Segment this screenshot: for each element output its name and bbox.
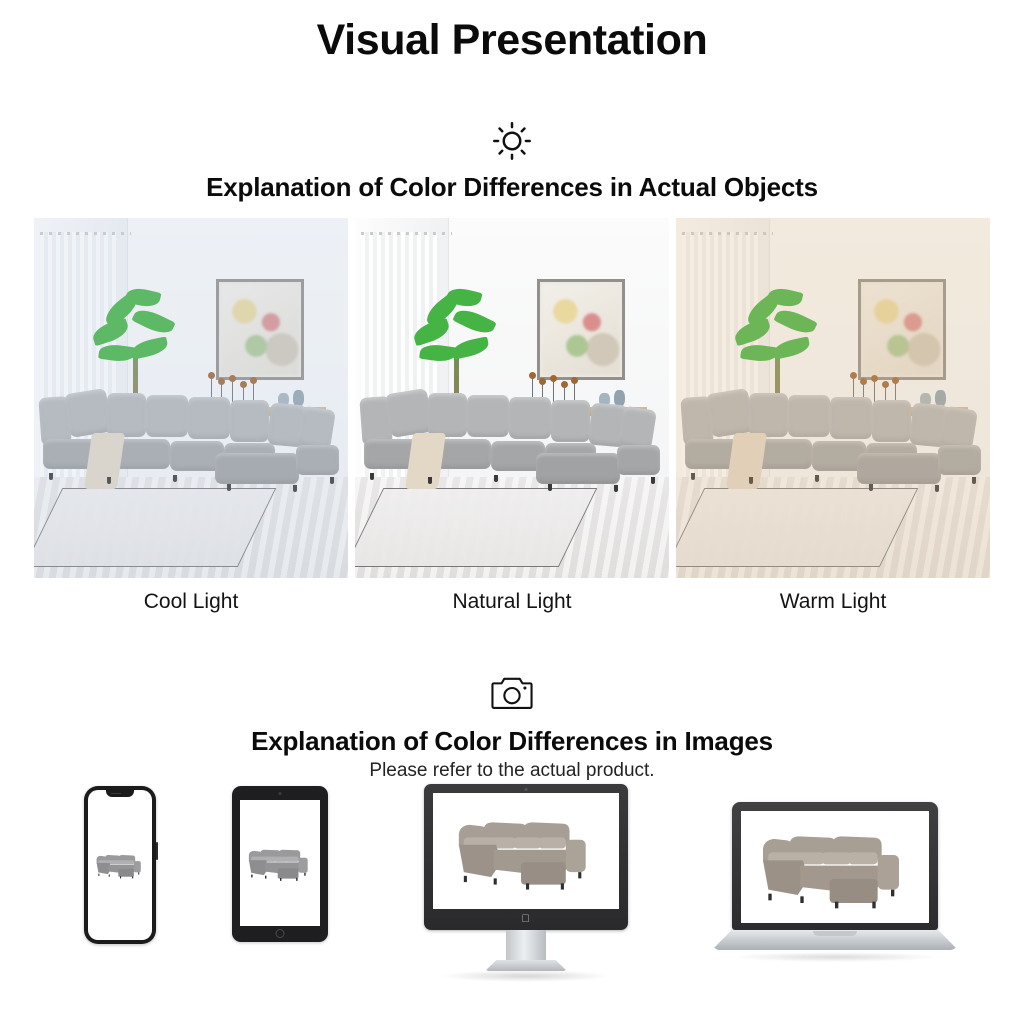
device-smartphone: [84, 786, 156, 944]
curtain-rail: [40, 232, 131, 235]
product-image-sofa: [755, 815, 915, 919]
living-room-scene: [355, 218, 669, 578]
product-image-sofa: [245, 841, 315, 886]
monitor-screen: [433, 793, 619, 909]
sectional-sofa: [682, 391, 983, 492]
page-title: Visual Presentation: [0, 16, 1024, 65]
tablet-screen: [240, 800, 320, 926]
device-preview-row: : [0, 786, 1024, 996]
area-rug: [676, 488, 918, 567]
product-image-sofa: [451, 803, 601, 900]
tablet-home-button[interactable]: [276, 929, 285, 938]
monitor-shadow: [441, 970, 611, 982]
smartphone-notch: [106, 790, 134, 797]
section-heading-images: Explanation of Color Differences in Imag…: [0, 726, 1024, 757]
monitor-camera-icon: [525, 788, 528, 791]
living-room-scene: [676, 218, 990, 578]
laptop-screen: [741, 811, 929, 923]
area-rug: [34, 488, 276, 567]
plant-leaf: [131, 305, 175, 338]
photo-caption-warm: Warm Light: [676, 590, 990, 614]
wall-art: [858, 279, 946, 380]
curtain-rail: [682, 232, 773, 235]
apple-logo-icon: : [522, 914, 531, 925]
plant-leaf: [452, 305, 496, 338]
section-heading-actual-objects: Explanation of Color Differences in Actu…: [0, 172, 1024, 203]
section-subheading-images: Please refer to the actual product.: [0, 760, 1024, 782]
device-tablet: [232, 786, 328, 942]
sectional-sofa: [361, 391, 662, 492]
product-image-sofa: [94, 848, 146, 882]
curtain-rail: [361, 232, 452, 235]
monitor-body: : [424, 784, 628, 930]
camera-icon: [0, 672, 1024, 717]
area-rug: [355, 488, 597, 567]
tablet-camera-icon: [279, 792, 282, 795]
device-desktop-monitor: : [424, 784, 628, 934]
plant-leaf: [772, 337, 812, 360]
plant-leaf: [773, 305, 817, 338]
lighting-comparison-row: Cool Light: [0, 218, 1024, 623]
smartphone-screen: [88, 790, 152, 940]
wall-art: [537, 279, 625, 380]
sectional-sofa: [40, 391, 341, 492]
lighting-photo-cell-natural: Natural Light: [355, 218, 669, 614]
laptop-shadow: [730, 952, 940, 962]
plant-leaf: [98, 343, 135, 364]
lighting-photo-cell-warm: Warm Light: [676, 218, 990, 614]
plant-leaf: [451, 337, 491, 360]
wall-art: [216, 279, 304, 380]
photo-caption-cool: Cool Light: [34, 590, 348, 614]
living-room-scene: [34, 218, 348, 578]
plant-leaf: [130, 337, 170, 360]
smartphone-side-button[interactable]: [156, 842, 158, 860]
plant-leaf: [740, 343, 777, 364]
room-photo-cool: [34, 218, 348, 578]
lighting-photo-cell-cool: Cool Light: [34, 218, 348, 614]
laptop-lid: [732, 802, 938, 930]
sun-icon: [0, 118, 1024, 169]
device-laptop: [712, 802, 958, 962]
laptop-trackpad-notch: [813, 931, 857, 936]
room-photo-warm: [676, 218, 990, 578]
room-photo-natural: [355, 218, 669, 578]
monitor-stand-neck: [506, 930, 546, 964]
photo-caption-natural: Natural Light: [355, 590, 669, 614]
visual-presentation-page: Visual Presentation Explanation of Color…: [0, 0, 1024, 1024]
plant-leaf: [419, 343, 456, 364]
